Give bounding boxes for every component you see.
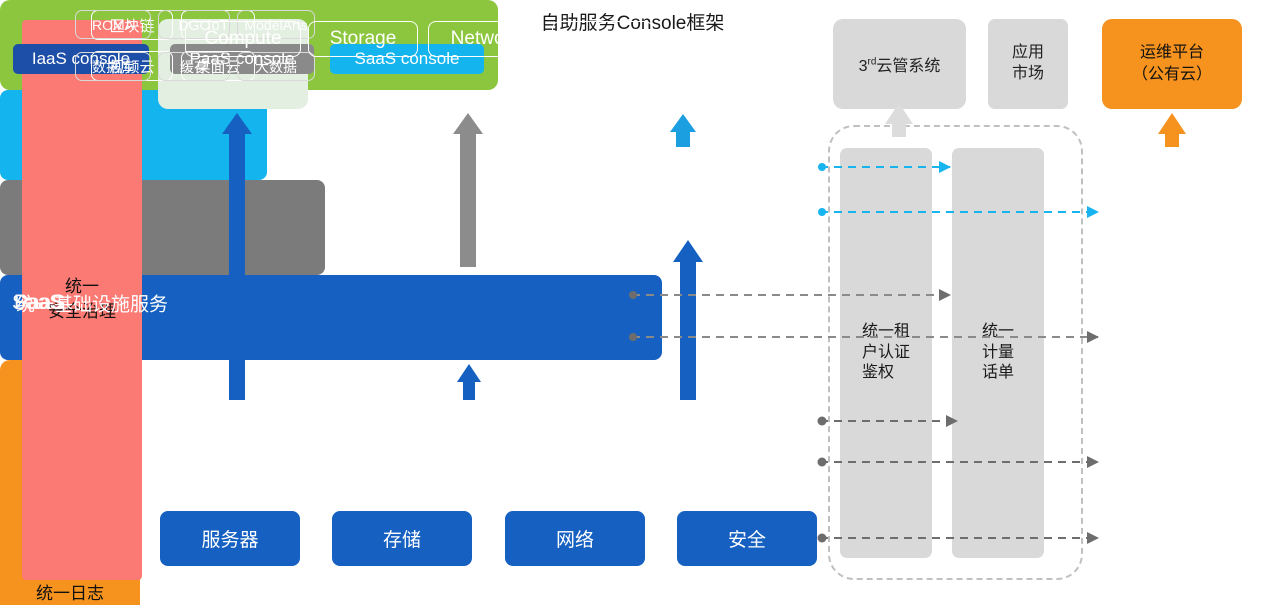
infra-item-cce[interactable]: CCE <box>552 21 653 57</box>
arrow-infra-to-paas <box>457 364 481 400</box>
hardware-item-server[interactable]: 服务器 <box>160 511 300 566</box>
infra-item-compute[interactable]: Compute <box>185 21 301 57</box>
link-dot <box>818 417 827 426</box>
unified-infrastructure-label: 统一基础设施服务 <box>16 289 168 316</box>
app-market-label: 应用 市场 <box>1012 43 1044 85</box>
unified-metering-billing-column: 统一 计量 话单 <box>952 148 1044 558</box>
unified-tenant-auth-column: 统一租 户认证 鉴权 <box>840 148 932 558</box>
unified-metering-billing-label: 统一 计量 话单 <box>982 322 1014 384</box>
third-party-cloud-mgmt-box: 3rd云管系统 <box>833 19 966 109</box>
link-dot <box>818 458 827 467</box>
infra-item-network[interactable]: Network <box>428 21 543 57</box>
paas-item-database[interactable]: 数据库 <box>75 52 151 81</box>
arrow-saas-to-saas-console <box>670 114 696 147</box>
link-dot <box>818 534 827 543</box>
app-market-box: 应用 市场 <box>988 19 1068 109</box>
third-party-cloud-mgmt-label: 3rd云管系统 <box>859 52 941 76</box>
hardware-item-network[interactable]: 网络 <box>505 511 645 566</box>
paas-item-roma[interactable]: ROMA <box>75 10 151 39</box>
arrow-paas-to-paas-console <box>453 113 483 267</box>
arrow-infra-to-saas <box>673 240 703 400</box>
hardware-item-security[interactable]: 安全 <box>677 511 817 566</box>
ops-platform-public-cloud-box: 运维平台 （公有云） <box>1102 19 1242 109</box>
hardware-item-storage[interactable]: 存储 <box>332 511 472 566</box>
ops-platform-label: 运维平台 （公有云） <box>1132 42 1212 85</box>
infra-item-storage[interactable]: Storage <box>308 21 418 57</box>
link-dot <box>818 208 826 216</box>
architecture-diagram: 统一 安全治理 API网关 自助服务Console框架 IaaS console… <box>0 0 1265 605</box>
unified-tenant-auth-label: 统一租 户认证 鉴权 <box>862 322 910 384</box>
link-dot <box>818 163 826 171</box>
arrow-to-ops-platform <box>1158 113 1186 147</box>
